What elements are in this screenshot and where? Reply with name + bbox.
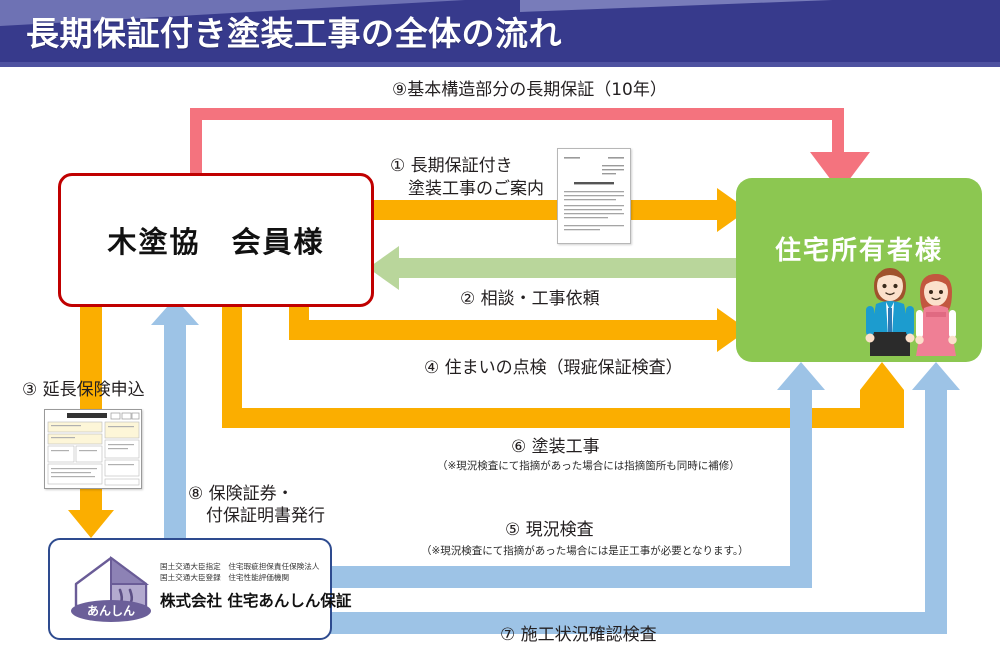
insurance-application-thumbnail bbox=[44, 409, 142, 489]
flow-label-5-note: （※現況検査にて指摘があった場合には是正工事が必要となります。） bbox=[421, 544, 749, 558]
flow-label-2: ② 相談・工事依頼 bbox=[460, 288, 600, 310]
flow-label-7: ⑦ 施工状況確認検査 bbox=[500, 624, 657, 646]
node-member-box[interactable]: 木塗協 会員様 bbox=[58, 173, 374, 307]
flow-label-6-note: （※現況検査にて指摘があった場合には指摘箇所も同時に補修） bbox=[437, 459, 740, 473]
couple-illustration bbox=[846, 252, 974, 362]
node-owner-box[interactable]: 住宅所有者様 bbox=[736, 178, 982, 362]
diagram-canvas: 長期保証付き塗装工事の全体の流れ 木塗協 会員様 住宅所有者様 bbox=[0, 0, 1000, 661]
anshin-line-2: 国土交通大臣登録 住宅性能評価機関 bbox=[160, 573, 351, 584]
flow-label-8-line2: 付保証明書発行 bbox=[206, 505, 325, 527]
flow-label-1-line2: 塗装工事のご案内 bbox=[408, 178, 544, 200]
anshin-text-block: 国土交通大臣指定 住宅瑕疵担保責任保険法人 国土交通大臣登録 住宅性能評価機関 … bbox=[160, 562, 351, 611]
flow-label-8-line1: ⑧ 保険証券・ bbox=[188, 483, 294, 505]
node-anshin-box[interactable]: あんしん 国土交通大臣指定 住宅瑕疵担保責任保険法人 国土交通大臣登録 住宅性能… bbox=[48, 538, 332, 640]
anshin-company-name: 株式会社 住宅あんしん保証 bbox=[160, 589, 351, 611]
flow-label-6: ⑥ 塗装工事 bbox=[511, 436, 600, 458]
anshin-house-icon: あんしん bbox=[68, 554, 154, 624]
flow-label-5: ⑤ 現況検査 bbox=[505, 519, 594, 541]
anshin-line-1: 国土交通大臣指定 住宅瑕疵担保責任保険法人 bbox=[160, 562, 351, 573]
arrow-flow-2 bbox=[368, 246, 736, 290]
node-member-label: 木塗協 会員様 bbox=[107, 219, 324, 261]
flow-label-3: ③ 延長保険申込 bbox=[22, 379, 145, 401]
proposal-document-thumbnail bbox=[557, 148, 631, 244]
flow-label-1-line1: ① 長期保証付き bbox=[390, 155, 513, 177]
svg-text:あんしん: あんしん bbox=[87, 604, 135, 618]
flow-label-4: ④ 住まいの点検（瑕疵保証検査） bbox=[424, 357, 683, 379]
flow-label-9: ⑨基本構造部分の長期保証（10年） bbox=[392, 79, 667, 101]
